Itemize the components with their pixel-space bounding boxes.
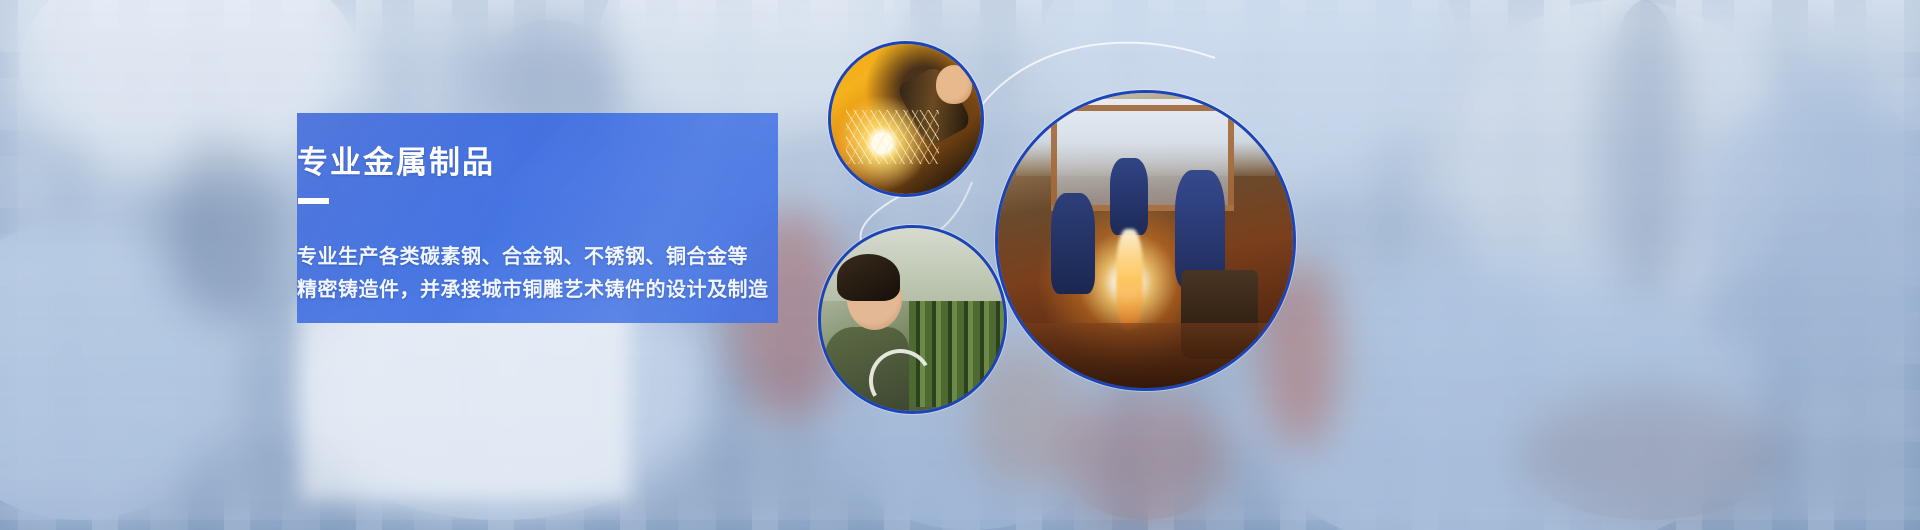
promo-description-line-1: 专业生产各类碳素钢、合金钢、不锈钢、铜合金等 [297, 241, 769, 274]
foundry-photo-image [998, 93, 1293, 388]
title-divider [298, 198, 329, 204]
foundry-worker-left [1051, 193, 1095, 293]
page-title: 专业金属制品 [297, 137, 495, 182]
background-white-panel [300, 300, 630, 500]
molten-metal-pour [1116, 229, 1143, 329]
foundry-worker-middle [1110, 158, 1148, 235]
promo-description-line-2: 精密铸造件，并承接城市铜雕艺术铸件的设计及制造 [297, 274, 769, 307]
hero-banner: 专业金属制品 专业生产各类碳素钢、合金钢、不锈钢、铜合金等 精密铸造件，并承接城… [0, 0, 1920, 530]
promo-description: 专业生产各类碳素钢、合金钢、不锈钢、铜合金等 精密铸造件，并承接城市铜雕艺术铸件… [297, 241, 769, 307]
welder-head-shape [936, 65, 972, 104]
foundry-pour-photo [995, 90, 1296, 391]
promo-text-layer: 专业金属制品 专业生产各类碳素钢、合金钢、不锈钢、铜合金等 精密铸造件，并承接城… [297, 113, 997, 323]
foundry-floor-shape [998, 323, 1293, 388]
